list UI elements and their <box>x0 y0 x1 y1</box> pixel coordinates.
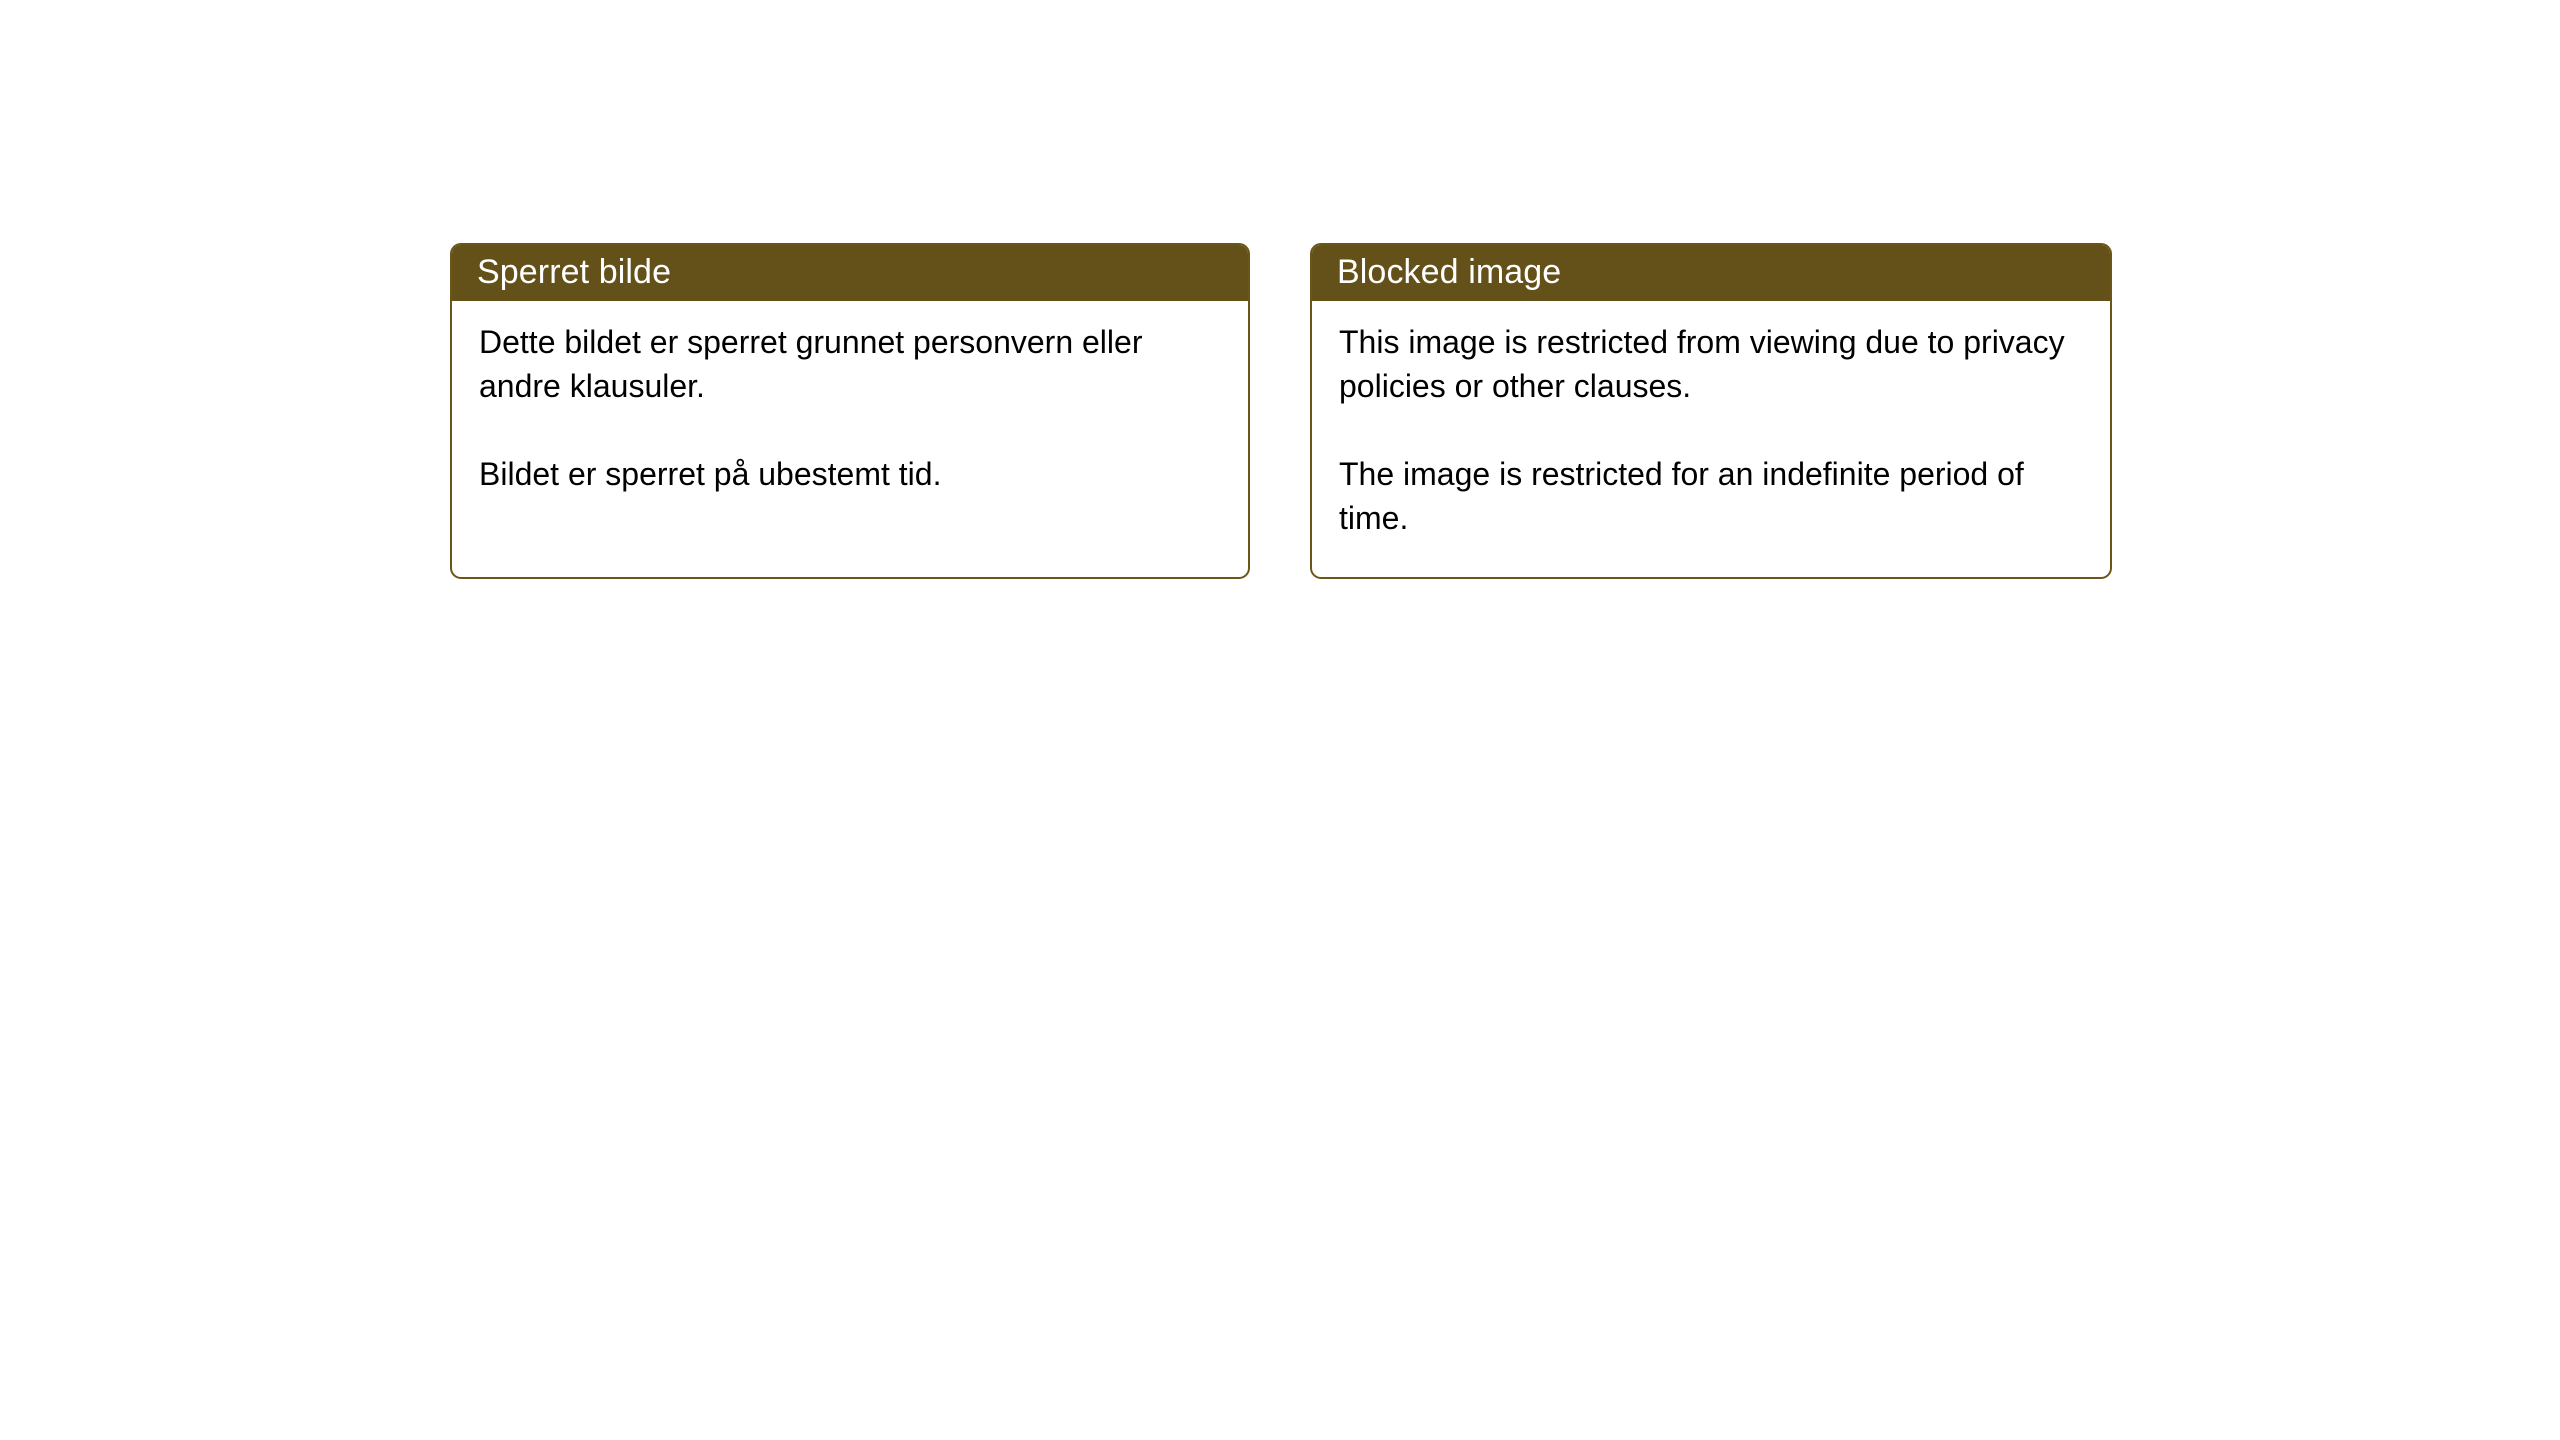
notice-header-norwegian: Sperret bilde <box>450 243 1250 301</box>
page-canvas: Sperret bilde Dette bildet er sperret gr… <box>0 0 2560 1440</box>
blocked-image-notice-norwegian: Sperret bilde Dette bildet er sperret gr… <box>450 243 1250 579</box>
notice-body-norwegian: Dette bildet er sperret grunnet personve… <box>452 301 1248 496</box>
notice-title-english: Blocked image <box>1337 253 1561 291</box>
notice-title-norwegian: Sperret bilde <box>477 253 671 291</box>
blocked-image-notice-english: Blocked image This image is restricted f… <box>1310 243 2112 579</box>
notice-body-english: This image is restricted from viewing du… <box>1312 301 2110 540</box>
notice-paragraph-reason-english: This image is restricted from viewing du… <box>1339 320 2084 408</box>
notice-paragraph-reason-norwegian: Dette bildet er sperret grunnet personve… <box>479 320 1222 408</box>
notice-paragraph-duration-english: The image is restricted for an indefinit… <box>1339 452 2084 540</box>
notice-header-english: Blocked image <box>1310 243 2112 301</box>
notice-paragraph-duration-norwegian: Bildet er sperret på ubestemt tid. <box>479 452 1222 496</box>
